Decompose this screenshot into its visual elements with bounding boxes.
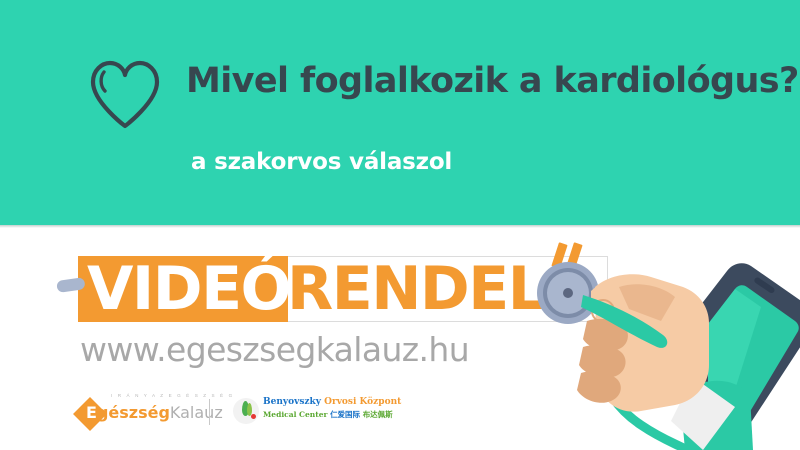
- benyovszky-name: Benyovszky: [263, 397, 321, 407]
- benyovszky-subtitle-hu: Orvosi Központ: [321, 397, 401, 407]
- page-title: Mivel foglalkozik a kardiológus?: [186, 57, 776, 105]
- heart-outline-icon: [88, 58, 162, 132]
- benyovszky-line-2: Medical Center 仁爱国际 布达佩斯: [263, 409, 393, 420]
- hand-holding-stethoscope-from-phone-icon: [575, 225, 800, 450]
- logo-word-video: VIDEÓ: [87, 256, 290, 322]
- benyovszky-subtitle-cn-1: 仁爱国际: [330, 410, 360, 419]
- header-band: Mivel foglalkozik a kardiológus? a szako…: [0, 0, 800, 225]
- egeszsegkalauz-tagline: I R Á N Y A Z E G É S Z S É G: [111, 393, 234, 398]
- website-url[interactable]: www.egeszsegkalauz.hu: [80, 329, 469, 371]
- logo-word-rendel: RENDEL: [287, 256, 544, 322]
- egeszsegkalauz-initial: E: [86, 403, 97, 422]
- partner-logo-benyovszky[interactable]: Benyovszky Orvosi Központ Medical Center…: [233, 396, 403, 430]
- benyovszky-subtitle-en: Medical Center: [263, 410, 327, 419]
- egeszsegkalauz-orange-part: gészség: [97, 403, 170, 422]
- benyovszky-line-1: Benyovszky Orvosi Központ: [263, 396, 401, 409]
- page-subtitle: a szakorvos válaszol: [191, 145, 452, 179]
- egeszsegkalauz-gray-part: Kalauz: [170, 403, 223, 422]
- partner-divider: [209, 399, 210, 425]
- video-consultation-banner: Mivel foglalkozik a kardiológus? a szako…: [0, 0, 800, 450]
- partner-logo-egeszsegkalauz[interactable]: I R Á N Y A Z E G É S Z S É G EgészségKa…: [78, 393, 228, 433]
- egeszsegkalauz-wordmark: EgészségKalauz: [86, 401, 223, 425]
- benyovszky-subtitle-cn-2: 布达佩斯: [363, 410, 393, 419]
- leaf-circle-icon: [233, 398, 259, 424]
